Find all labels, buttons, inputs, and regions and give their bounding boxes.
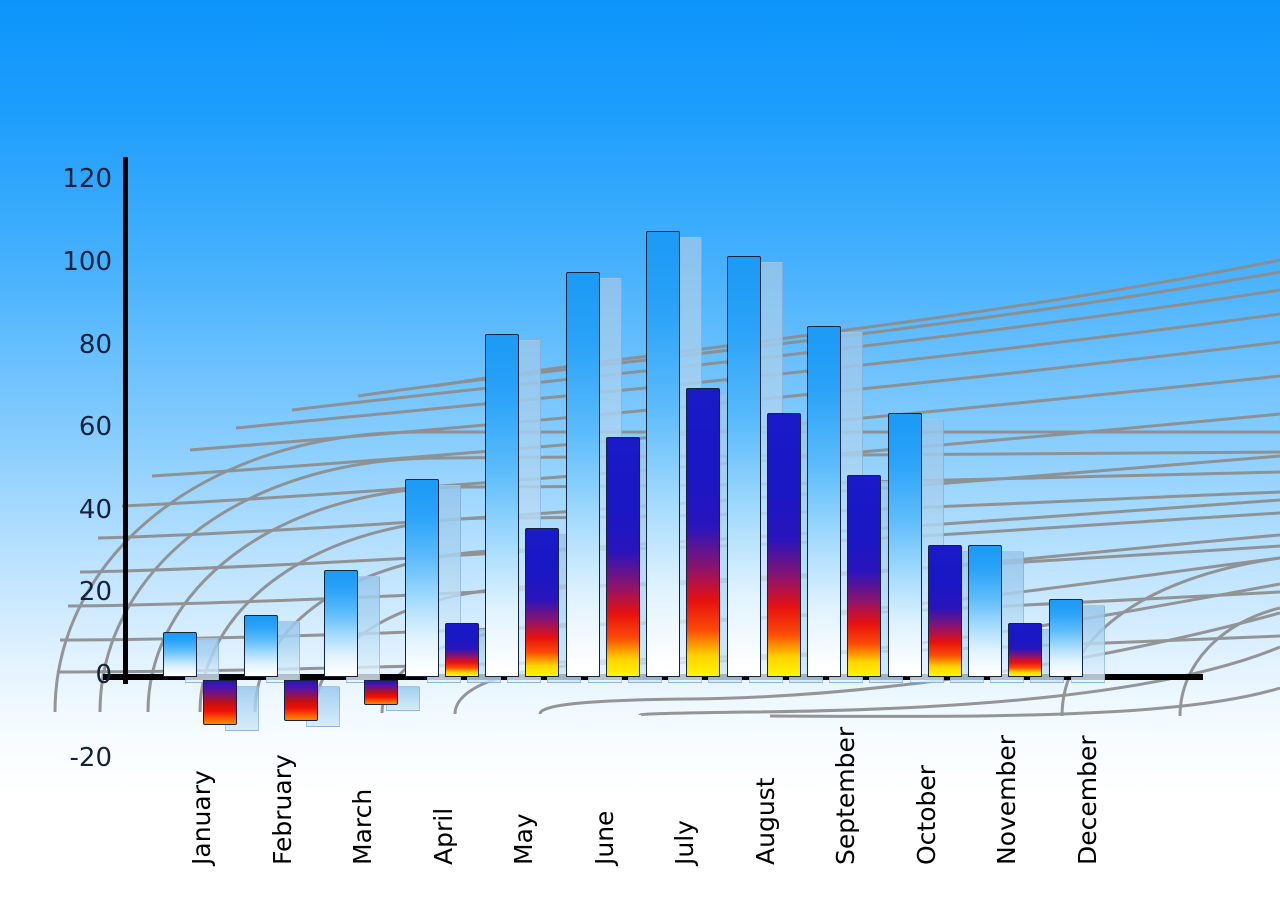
y-tick-label: 80 <box>42 330 112 360</box>
bar-chart: -20020406080100120 JanuaryFebruaryMarchA… <box>0 0 1280 905</box>
category-label-february: February <box>268 754 297 865</box>
category-label-march: March <box>348 789 377 865</box>
category-label-october: October <box>912 765 941 865</box>
bar-series2-march[interactable] <box>364 680 398 705</box>
category-label-september: September <box>831 727 860 865</box>
bar-series1-may[interactable] <box>485 334 519 677</box>
y-tick-label: -20 <box>42 743 112 773</box>
bar-series2-july[interactable] <box>686 388 720 677</box>
bar-series1-june[interactable] <box>566 272 600 677</box>
bar-series2-may[interactable] <box>525 528 559 677</box>
y-tick-label: 40 <box>42 495 112 525</box>
category-label-january: January <box>187 770 216 865</box>
category-label-may: May <box>509 813 538 865</box>
category-label-july: July <box>670 820 699 865</box>
y-tick-label: 20 <box>42 577 112 607</box>
category-label-april: April <box>429 808 458 865</box>
bar-series1-november[interactable] <box>968 545 1002 677</box>
bar-series1-april[interactable] <box>405 479 439 677</box>
bar-series2-april[interactable] <box>445 623 479 677</box>
category-label-december: December <box>1073 735 1102 865</box>
bar-series1-september[interactable] <box>807 326 841 677</box>
category-label-august: August <box>751 778 780 866</box>
bar-series2-september[interactable] <box>847 475 881 677</box>
y-tick-label: 0 <box>42 660 112 690</box>
bar-series2-june[interactable] <box>606 437 640 677</box>
bar-series1-august[interactable] <box>727 256 761 677</box>
bar-series2-august[interactable] <box>767 413 801 677</box>
bar-series1-october[interactable] <box>888 413 922 677</box>
y-tick-label: 100 <box>42 247 112 277</box>
y-axis <box>123 157 128 684</box>
bar-series1-january[interactable] <box>163 632 197 677</box>
category-label-november: November <box>992 735 1021 865</box>
bar-series1-march[interactable] <box>324 570 358 677</box>
bar-series2-october[interactable] <box>928 545 962 677</box>
bar-series1-december[interactable] <box>1049 599 1083 677</box>
plot-area: -20020406080100120 JanuaryFebruaryMarchA… <box>0 0 1280 905</box>
bar-series2-february[interactable] <box>284 680 318 721</box>
bar-series1-february[interactable] <box>244 615 278 677</box>
y-tick-label: 120 <box>42 164 112 194</box>
category-label-june: June <box>590 811 619 865</box>
bar-series2-november[interactable] <box>1008 623 1042 677</box>
bar-series1-july[interactable] <box>646 231 680 677</box>
bar-series2-january[interactable] <box>203 680 237 725</box>
y-tick-label: 60 <box>42 412 112 442</box>
